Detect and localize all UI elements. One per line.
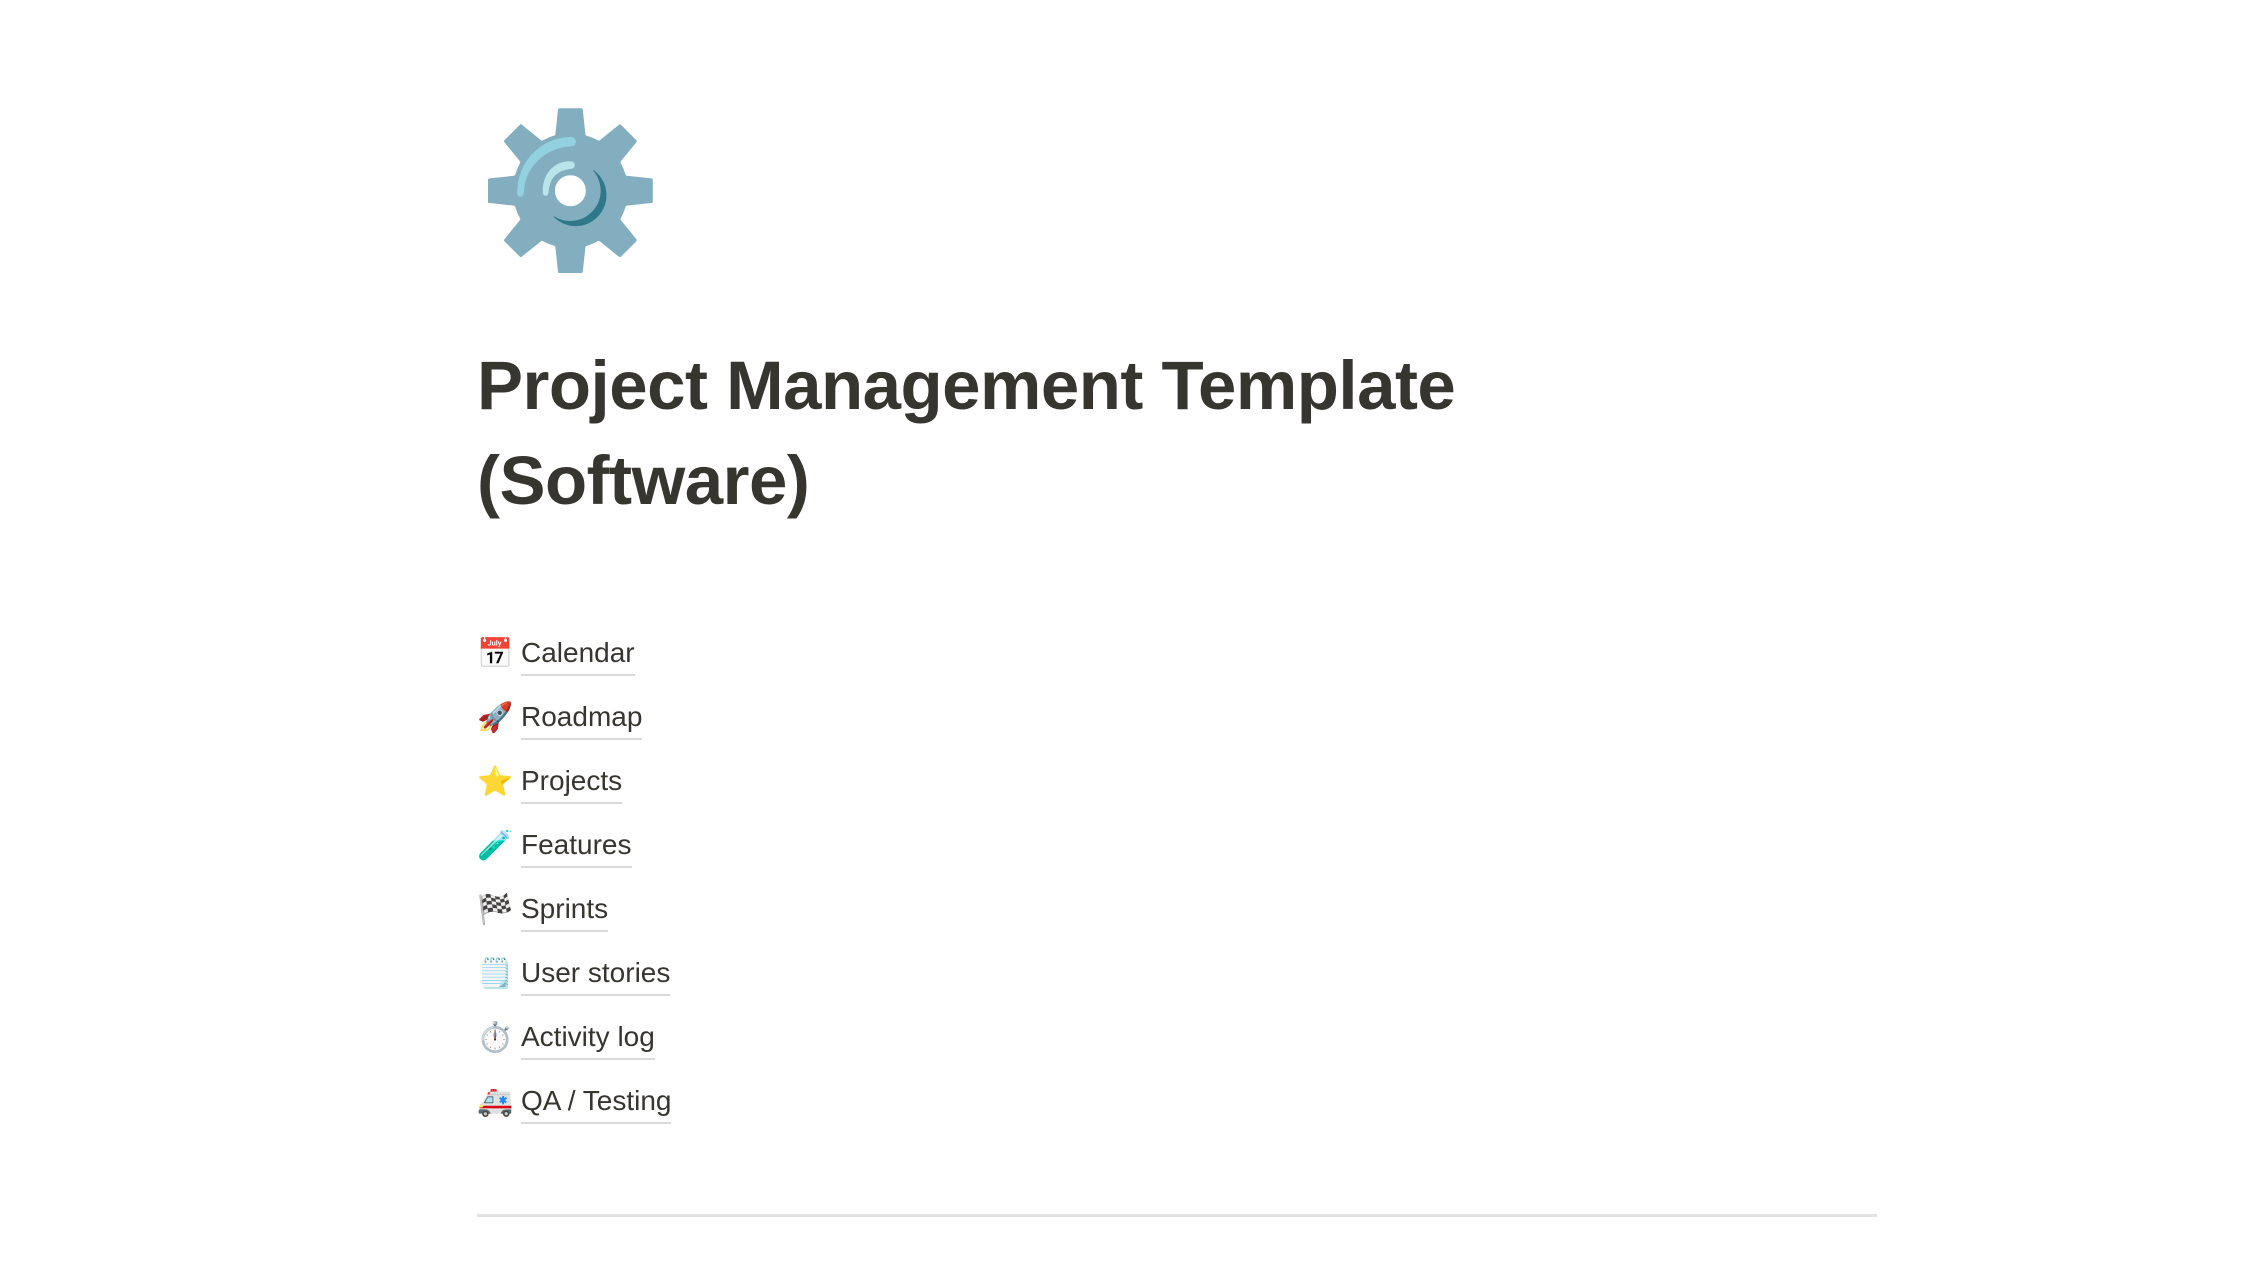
- list-item[interactable]: 🏁 Sprints: [477, 878, 1877, 942]
- page-link-features[interactable]: Features: [521, 825, 632, 868]
- list-item[interactable]: 📅 Calendar: [477, 622, 1877, 686]
- rocket-icon: 🚀: [477, 701, 511, 735]
- stopwatch-icon: ⏱️: [477, 1021, 511, 1055]
- list-item[interactable]: ⏱️ Activity log: [477, 1006, 1877, 1070]
- ambulance-icon: 🚑: [477, 1085, 511, 1119]
- divider-block: [477, 1205, 1877, 1225]
- page-link-qa-testing[interactable]: QA / Testing: [521, 1081, 671, 1124]
- calendar-icon: 📅: [477, 637, 511, 671]
- gear-icon[interactable]: ⚙️: [477, 100, 664, 280]
- spiral-notepad-icon: 🗒️: [477, 957, 511, 991]
- page-link-activity-log[interactable]: Activity log: [521, 1017, 655, 1060]
- page-link-sprints[interactable]: Sprints: [521, 889, 608, 932]
- page-link-roadmap[interactable]: Roadmap: [521, 697, 642, 740]
- page-link-list: 📅 Calendar 🚀 Roadmap ⭐ Projects 🧪 Featur…: [477, 622, 1877, 1134]
- page-link-calendar[interactable]: Calendar: [521, 633, 635, 676]
- list-item[interactable]: 🗒️ User stories: [477, 942, 1877, 1006]
- document-page: ⚙️ Project Management Template (Software…: [0, 0, 2268, 1280]
- page-icon-block[interactable]: ⚙️: [477, 100, 664, 280]
- page-title-block: Project Management Template (Software): [477, 338, 1637, 528]
- page-link-user-stories[interactable]: User stories: [521, 953, 670, 996]
- list-item[interactable]: 🚀 Roadmap: [477, 686, 1877, 750]
- chequered-flag-icon: 🏁: [477, 893, 511, 927]
- list-item[interactable]: 🧪 Features: [477, 814, 1877, 878]
- star-icon: ⭐: [477, 765, 511, 799]
- test-tube-icon: 🧪: [477, 829, 511, 863]
- page-title[interactable]: Project Management Template (Software): [477, 338, 1637, 528]
- page-link-projects[interactable]: Projects: [521, 761, 622, 804]
- divider: [477, 1214, 1877, 1217]
- list-item[interactable]: 🚑 QA / Testing: [477, 1070, 1877, 1134]
- list-item[interactable]: ⭐ Projects: [477, 750, 1877, 814]
